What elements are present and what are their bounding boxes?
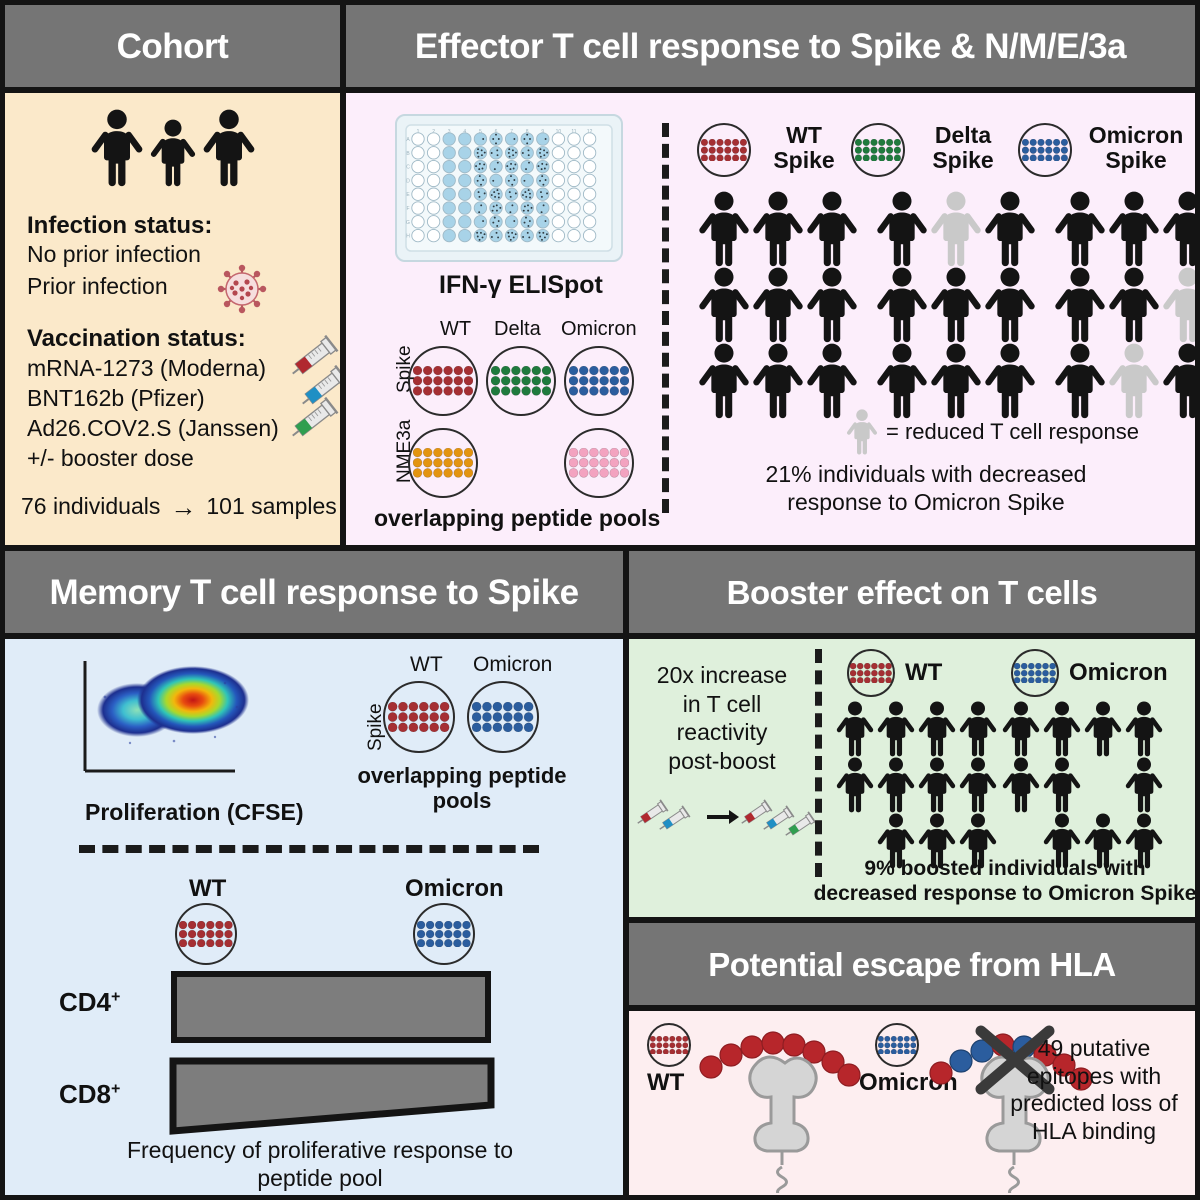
person-icon	[806, 191, 858, 267]
memory-bar-label-wt: WT	[189, 875, 226, 903]
svg-text:D: D	[406, 178, 410, 184]
legend-label-delta-line2: Spike	[912, 148, 1014, 173]
cohort-people-row	[90, 109, 256, 187]
peptide-dot-grid	[413, 366, 473, 395]
reduced-response-legend-text: = reduced T cell response	[886, 419, 1139, 445]
person-icon	[984, 267, 1036, 343]
peptide-dot-grid	[850, 663, 892, 683]
person-icon	[1108, 267, 1160, 343]
peptide-dot-grid	[388, 702, 449, 732]
person-cell	[876, 757, 916, 813]
person-cell	[876, 191, 928, 267]
panel-hla: WT Omicron	[624, 1006, 1200, 1200]
legend-label-delta-line1: Delta	[912, 123, 1014, 148]
peptide-dot-grid	[413, 448, 473, 477]
peptide-pool-omicron-nme3a	[564, 428, 634, 498]
panel-header-memory: Memory T cell response to Spike	[0, 546, 628, 638]
memory-caption-line1: Frequency of proliferative response to	[45, 1137, 595, 1165]
person-cell	[876, 701, 916, 757]
person-icon	[835, 701, 875, 757]
person-cell	[930, 191, 982, 267]
person-cell	[958, 757, 998, 813]
peptide-dot-grid	[1022, 139, 1068, 161]
panel-header-effector: Effector T cell response to Spike & N/M/…	[341, 0, 1200, 92]
legend-pool-wt	[697, 123, 751, 177]
people-row	[835, 757, 998, 813]
person-icon	[917, 701, 957, 757]
people-grid-omicron	[1054, 191, 1200, 419]
hla-stat-line0: 49 putative	[989, 1035, 1199, 1063]
legend-pool-omicron	[1018, 123, 1072, 177]
bar-label-cd8: CD8+	[59, 1079, 120, 1110]
person-icon	[1001, 701, 1041, 757]
person-icon	[917, 757, 957, 813]
person-icon	[752, 343, 804, 419]
peptide-dot-grid	[878, 1036, 916, 1055]
person-icon	[876, 757, 916, 813]
memory-peptide-pool-wt	[383, 681, 455, 753]
booster-stat-line2: decreased response to Omicron Spike	[809, 882, 1200, 907]
cohort-individuals-count: 76 individuals	[21, 493, 160, 520]
person-icon	[835, 757, 875, 813]
hla-label-wt: WT	[647, 1069, 684, 1097]
panel-cohort: Infection status: No prior infection Pri…	[0, 88, 345, 550]
person-cell	[806, 267, 858, 343]
person-cell	[806, 191, 858, 267]
vaccine-item-1: BNT162b (Pfizer)	[27, 385, 205, 412]
memory-caption-line2: peptide pool	[45, 1165, 595, 1193]
person-cell	[917, 757, 957, 813]
effector-title: Effector T cell response to Spike & N/M/…	[415, 29, 1126, 64]
person-icon	[876, 343, 928, 419]
elispot-plate-icon: 123456789101112ABCDEFGH	[394, 113, 624, 263]
peptide-dot-grid	[855, 139, 901, 161]
peptide-dot-grid	[179, 921, 233, 947]
person-cell	[1083, 701, 1123, 757]
bar-cd4	[171, 971, 491, 1043]
divider-dashed-memory	[79, 845, 539, 853]
booster-increase-line3: post-boost	[637, 747, 807, 776]
peptide-dot-grid	[701, 139, 747, 161]
peptide-dot-grid	[569, 366, 629, 395]
people-row	[698, 191, 858, 267]
panel-header-booster: Booster effect on T cells	[624, 546, 1200, 638]
person-icon	[876, 701, 916, 757]
person-icon	[698, 267, 750, 343]
divider-dashed-booster	[815, 649, 822, 877]
person-cell	[752, 191, 804, 267]
peptide-dot-grid	[650, 1036, 688, 1055]
peptide-dot-grid	[417, 921, 471, 947]
legend-label-wt: WT Spike	[758, 123, 850, 173]
memory-title: Memory T cell response to Spike	[49, 575, 578, 610]
person-icon	[1054, 267, 1106, 343]
hla-stat-text: 49 putative epitopes with predicted loss…	[989, 1035, 1199, 1145]
person-cell	[752, 267, 804, 343]
pool-col-label-delta: Delta	[494, 318, 541, 341]
people-row	[1054, 343, 1200, 419]
people-row	[876, 343, 1036, 419]
person-cell	[1162, 267, 1200, 343]
person-icon	[1162, 191, 1200, 267]
memory-bar-label-omicron: Omicron	[405, 875, 504, 903]
cohort-samples-count: 101 samples	[206, 493, 336, 520]
bar-cd8	[169, 1057, 495, 1135]
hla-stat-line1: epitopes with	[989, 1063, 1199, 1091]
booster-label-omicron: Omicron	[1069, 659, 1168, 687]
people-row	[835, 701, 998, 757]
legend-label-omicron: Omicron Spike	[1076, 123, 1196, 173]
person-icon-grey	[1162, 267, 1200, 343]
panel-header-cohort: Cohort	[0, 0, 345, 92]
pool-caption-effector: overlapping peptide pools	[374, 505, 660, 532]
hla-pool-wt	[647, 1023, 691, 1067]
person-cell	[752, 343, 804, 419]
hla-stat-line3: HLA binding	[989, 1118, 1199, 1146]
person-icon	[1108, 191, 1160, 267]
people-row	[1001, 701, 1164, 757]
person-icon	[958, 757, 998, 813]
person-icon	[984, 343, 1036, 419]
booster-pool-wt	[847, 649, 895, 697]
memory-bottom-caption: Frequency of proliferative response to p…	[45, 1137, 595, 1192]
legend-pool-delta	[851, 123, 905, 177]
person-cell	[1108, 267, 1160, 343]
peptide-dot-grid	[569, 448, 629, 477]
person-cell	[1001, 701, 1041, 757]
person-icon	[202, 109, 256, 187]
vaccination-status-heading: Vaccination status:	[27, 325, 246, 353]
effector-stat-line2: response to Omicron Spike	[676, 489, 1176, 517]
person-cell	[835, 701, 875, 757]
person-cell	[1001, 757, 1041, 813]
person-icon	[1162, 343, 1200, 419]
effector-stat-text: 21% individuals with decreased response …	[676, 461, 1176, 516]
person-icon	[984, 191, 1036, 267]
svg-text:F: F	[406, 206, 409, 212]
effector-stat-line1: 21% individuals with decreased	[676, 461, 1176, 489]
flow-axis-label: Proliferation (CFSE)	[85, 799, 304, 826]
memory-bar-pool-wt	[175, 903, 237, 965]
person-icon	[1124, 701, 1164, 757]
pool-col-label-wt: WT	[440, 318, 471, 341]
people-row	[1001, 757, 1164, 813]
people-grid-wt	[698, 191, 858, 419]
booster-stat-line1: 9% boosted individuals with	[809, 857, 1200, 882]
person-cell	[806, 343, 858, 419]
booster-syringes-icon	[637, 787, 817, 847]
person-cell	[930, 267, 982, 343]
person-icon	[930, 267, 982, 343]
virus-icon	[217, 264, 267, 314]
person-icon-grey-legend	[846, 409, 878, 455]
memory-pool-caption-line1: overlapping peptide	[347, 763, 577, 788]
panel-booster: 20x increase in T cell reactivity post-b…	[624, 634, 1200, 922]
person-cell	[984, 267, 1036, 343]
people-row	[1054, 267, 1200, 343]
person-icon	[806, 267, 858, 343]
person-icon	[1083, 701, 1123, 757]
panel-effector: 123456789101112ABCDEFGH IFN-γ ELISpot WT…	[341, 88, 1200, 550]
person-cell	[1054, 267, 1106, 343]
memory-pool-col-omicron: Omicron	[473, 653, 552, 677]
hla-title: Potential escape from HLA	[708, 948, 1115, 981]
person-icon	[698, 191, 750, 267]
person-cell	[876, 343, 928, 419]
bar-label-cd4: CD4+	[59, 987, 120, 1018]
person-cell	[698, 191, 750, 267]
hla-molecule-wt-icon	[697, 1017, 867, 1193]
person-icon	[876, 267, 928, 343]
person-cell	[1124, 757, 1164, 813]
people-row	[876, 267, 1036, 343]
person-icon	[1054, 343, 1106, 419]
person-cell	[1108, 191, 1160, 267]
peptide-pool-wt-nme3a	[408, 428, 478, 498]
peptide-dot-grid	[1014, 663, 1056, 683]
booster-people-grid-wt	[835, 701, 998, 869]
person-cell	[1162, 191, 1200, 267]
svg-text:G: G	[406, 220, 410, 226]
person-cell	[1042, 757, 1082, 813]
legend-label-omicron-line2: Spike	[1076, 148, 1196, 173]
people-row	[1054, 191, 1200, 267]
elispot-label: IFN-γ ELISpot	[439, 271, 603, 300]
person-cell	[835, 757, 875, 813]
person-cell	[1124, 701, 1164, 757]
person-icon	[1124, 757, 1164, 813]
booster-increase-text: 20x increase in T cell reactivity post-b…	[637, 661, 807, 775]
memory-pool-col-wt: WT	[410, 653, 443, 677]
person-cell	[1108, 343, 1160, 419]
peptide-dot-grid	[472, 702, 533, 732]
person-icon	[752, 267, 804, 343]
booster-people-grid-omicron	[1001, 701, 1164, 869]
peptide-dot-grid	[491, 366, 551, 395]
flow-cytometry-plot	[75, 655, 300, 795]
peptide-pool-delta-spike	[486, 346, 556, 416]
person-cell	[1042, 701, 1082, 757]
memory-pool-caption: overlapping peptide pools	[347, 763, 577, 814]
booster-stat-text: 9% boosted individuals with decreased re…	[809, 857, 1200, 907]
no-prior-infection-label: No prior infection	[27, 241, 201, 268]
pool-col-label-omicron: Omicron	[561, 318, 637, 341]
vaccine-item-2: Ad26.COV2.S (Janssen)	[27, 415, 279, 442]
person-icon	[958, 701, 998, 757]
person-icon-grey	[1108, 343, 1160, 419]
divider-dashed-effector	[662, 123, 669, 513]
peptide-pool-omicron-spike	[564, 346, 634, 416]
person-cell	[917, 701, 957, 757]
arrow-icon: →	[170, 494, 196, 520]
people-grid-delta	[876, 191, 1036, 419]
infection-status-heading: Infection status:	[27, 212, 212, 240]
memory-bar-pool-omicron	[413, 903, 475, 965]
vaccine-item-3: +/- booster dose	[27, 445, 194, 472]
person-icon	[752, 191, 804, 267]
booster-increase-line1: in T cell	[637, 690, 807, 719]
legend-label-wt-line2: Spike	[758, 148, 850, 173]
memory-peptide-pool-omicron	[467, 681, 539, 753]
person-icon	[90, 109, 144, 187]
person-cell	[698, 267, 750, 343]
person-icon	[150, 119, 196, 187]
person-icon	[806, 343, 858, 419]
cohort-title: Cohort	[117, 29, 229, 64]
person-icon-grey	[930, 191, 982, 267]
person-cell	[958, 701, 998, 757]
hla-pool-omicron	[875, 1023, 919, 1067]
person-cell	[984, 343, 1036, 419]
legend-label-delta: Delta Spike	[912, 123, 1014, 173]
people-row	[876, 191, 1036, 267]
person-cell	[930, 343, 982, 419]
syringe-icon-green	[283, 393, 345, 445]
person-cell	[876, 267, 928, 343]
person-cell	[984, 191, 1036, 267]
person-icon	[1042, 757, 1082, 813]
graphical-abstract: Cohort Infection status: No prior infect…	[0, 0, 1200, 1200]
cohort-summary: 76 individuals → 101 samples	[21, 493, 337, 520]
memory-pool-caption-line2: pools	[347, 788, 577, 813]
person-cell	[1162, 343, 1200, 419]
person-cell	[698, 343, 750, 419]
panel-header-hla: Potential escape from HLA	[624, 918, 1200, 1010]
svg-text:H: H	[406, 234, 410, 240]
person-cell	[1054, 343, 1106, 419]
booster-increase-line0: 20x increase	[637, 661, 807, 690]
people-row	[698, 343, 858, 419]
booster-pool-omicron	[1011, 649, 1059, 697]
svg-text:C: C	[406, 165, 410, 171]
hla-stat-line2: predicted loss of	[989, 1090, 1199, 1118]
person-icon	[1001, 757, 1041, 813]
vaccine-item-0: mRNA-1273 (Moderna)	[27, 355, 266, 382]
legend-label-omicron-line1: Omicron	[1076, 123, 1196, 148]
panel-memory: Proliferation (CFSE) WT Omicron Spike ov…	[0, 634, 628, 1200]
person-icon	[698, 343, 750, 419]
legend-label-wt-line1: WT	[758, 123, 850, 148]
person-icon	[1042, 701, 1082, 757]
person-icon	[876, 191, 928, 267]
booster-label-wt: WT	[905, 659, 942, 687]
person-icon	[930, 343, 982, 419]
peptide-pool-wt-spike	[408, 346, 478, 416]
people-row	[698, 267, 858, 343]
booster-title: Booster effect on T cells	[727, 576, 1098, 609]
person-cell	[1054, 191, 1106, 267]
booster-increase-line2: reactivity	[637, 718, 807, 747]
person-icon	[1054, 191, 1106, 267]
prior-infection-label: Prior infection	[27, 273, 168, 300]
